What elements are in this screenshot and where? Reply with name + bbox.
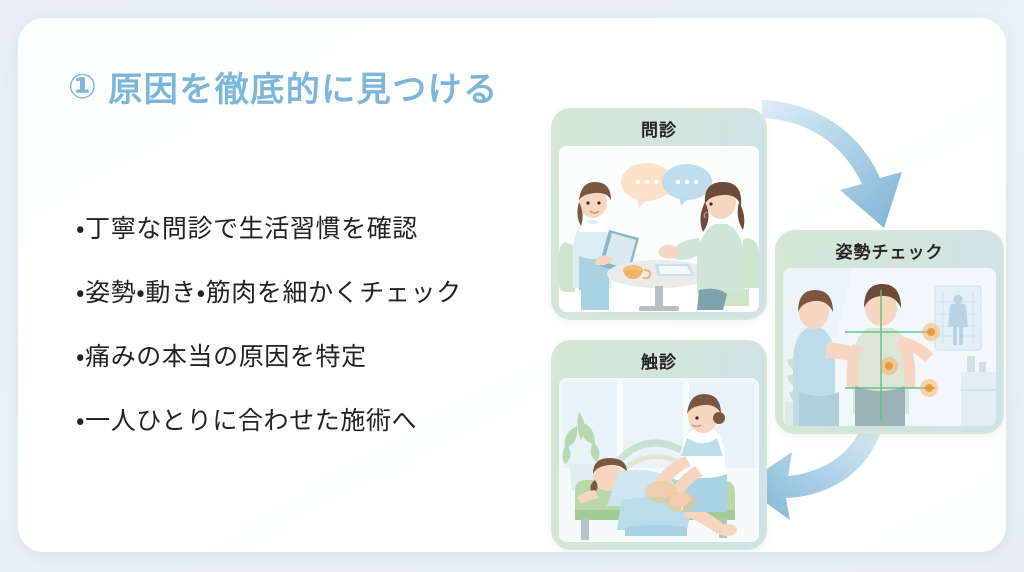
card-monshin-illustration — [559, 146, 759, 312]
title-number: ① — [68, 67, 98, 107]
card-shokushin[interactable]: 触診 — [551, 340, 767, 550]
card-shokushin-illustration — [559, 378, 759, 542]
list-item: ・丁寧な問診で生活習慣を確認 — [76, 214, 536, 244]
card-monshin[interactable]: 問診 — [551, 108, 767, 320]
card-shisei[interactable]: 姿勢チェック — [775, 230, 1004, 434]
list-item: ・一人ひとりに合わせた施術へ — [76, 406, 536, 436]
card-monshin-label: 問診 — [553, 116, 765, 141]
card-shokushin-label: 触診 — [553, 348, 765, 373]
title-text: 原因を徹底的に見つける — [108, 62, 499, 111]
card-shisei-label: 姿勢チェック — [777, 238, 1002, 263]
page-title: ① 原因を徹底的に見つける — [68, 62, 499, 111]
bullet-list: ・丁寧な問診で生活習慣を確認 ・姿勢・動き・筋肉を細かくチェック ・痛みの本当の… — [76, 214, 536, 470]
list-item: ・痛みの本当の原因を特定 — [76, 342, 536, 372]
list-item: ・姿勢・動き・筋肉を細かくチェック — [76, 278, 536, 308]
arrow-down-right-icon — [762, 100, 902, 228]
card-shisei-illustration — [783, 268, 996, 426]
slide-card: ① 原因を徹底的に見つける ・丁寧な問診で生活習慣を確認 ・姿勢・動き・筋肉を細… — [18, 18, 1006, 552]
slide-canvas: ① 原因を徹底的に見つける ・丁寧な問診で生活習慣を確認 ・姿勢・動き・筋肉を細… — [0, 0, 1024, 572]
